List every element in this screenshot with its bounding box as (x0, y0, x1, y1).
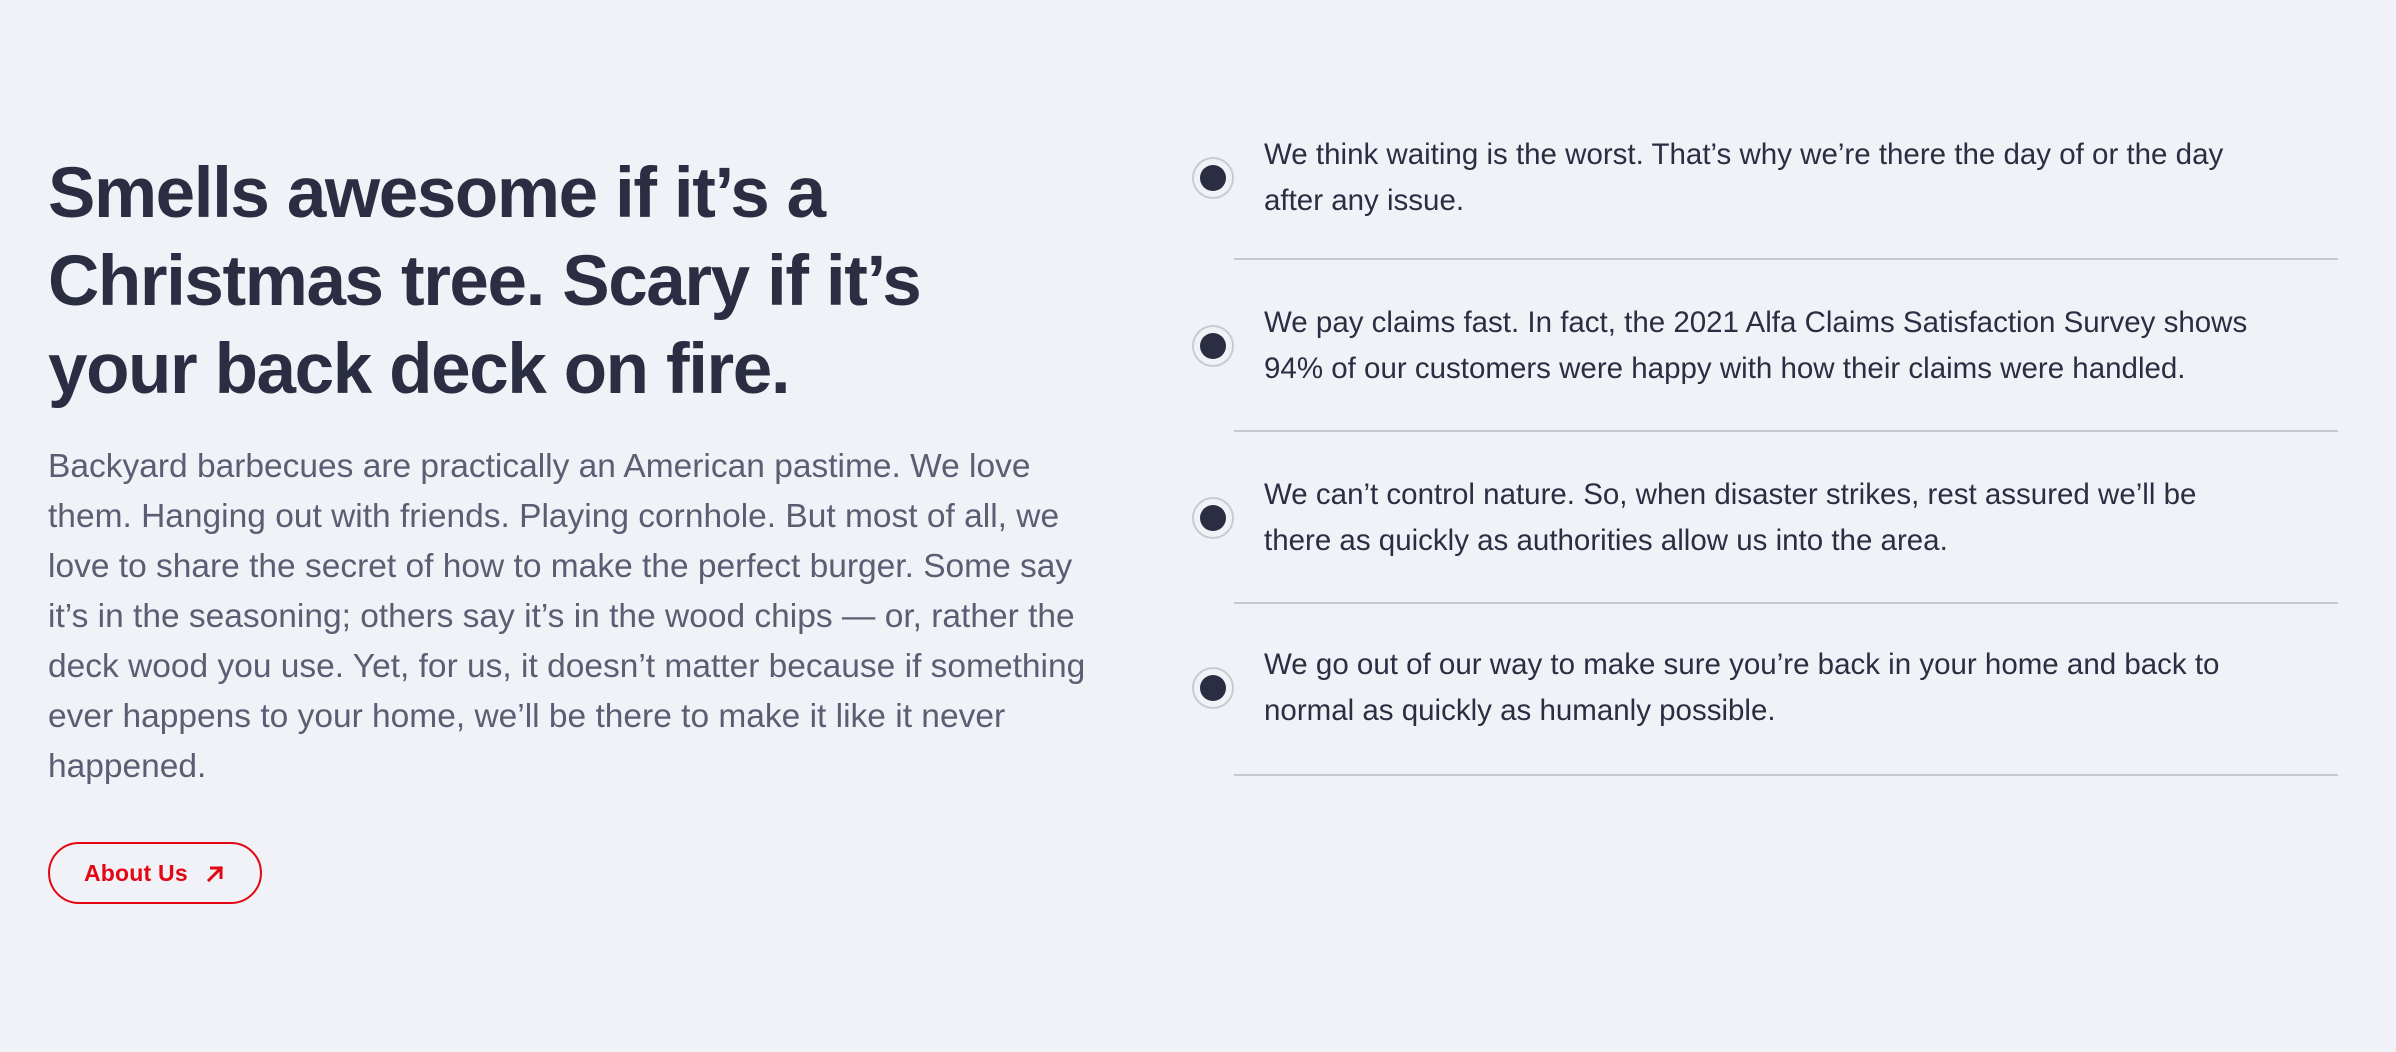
filled-circle-bullet-icon (1192, 667, 1234, 709)
list-divider (1234, 774, 2338, 776)
list-item-text: We go out of our way to make sure you’re… (1264, 642, 2264, 734)
list-item[interactable]: We pay claims fast. In fact, the 2021 Al… (1192, 260, 2296, 430)
list-item-text: We think waiting is the worst. That’s wh… (1264, 132, 2264, 224)
list-item[interactable]: We think waiting is the worst. That’s wh… (1192, 118, 2296, 258)
about-us-button-label: About Us (84, 862, 188, 885)
list-item[interactable]: We go out of our way to make sure you’re… (1192, 604, 2296, 774)
filled-circle-bullet-icon (1192, 157, 1234, 199)
promise-section: Smells awesome if it’s a Christmas tree.… (0, 0, 2396, 1052)
about-us-button[interactable]: About Us (48, 842, 262, 904)
page-title: Smells awesome if it’s a Christmas tree.… (48, 150, 1008, 414)
filled-circle-bullet-icon (1192, 325, 1234, 367)
list-item-text: We can’t control nature. So, when disast… (1264, 472, 2264, 564)
right-content-column: We think waiting is the worst. That’s wh… (1150, 0, 2396, 776)
arrow-up-right-icon (204, 863, 226, 885)
intro-paragraph: Backyard barbecues are practically an Am… (48, 442, 1098, 792)
list-item-text: We pay claims fast. In fact, the 2021 Al… (1264, 300, 2264, 392)
filled-circle-bullet-icon (1192, 497, 1234, 539)
promise-list: We think waiting is the worst. That’s wh… (1192, 118, 2296, 776)
left-content-column: Smells awesome if it’s a Christmas tree.… (0, 0, 1150, 904)
list-item[interactable]: We can’t control nature. So, when disast… (1192, 432, 2296, 602)
